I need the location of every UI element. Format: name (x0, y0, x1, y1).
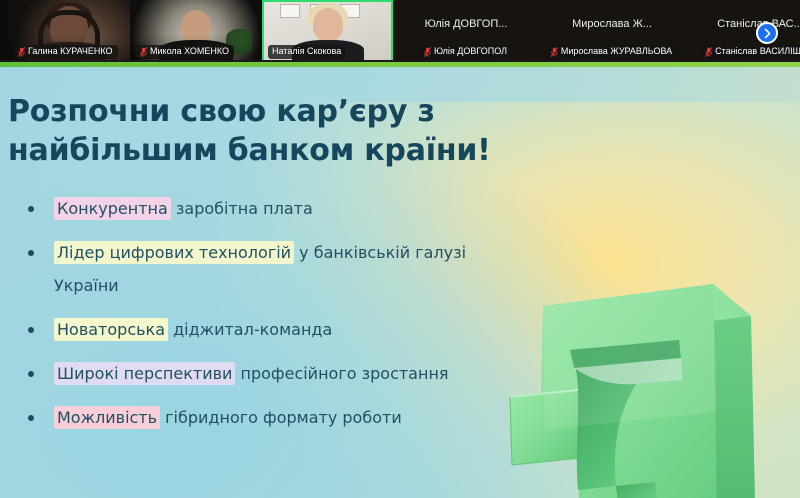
next-participants-button[interactable] (756, 22, 778, 44)
participant-2-name-label: Мирослава ЖУРАВЛЬОВА (561, 46, 672, 57)
slide-accent-rule (0, 62, 800, 67)
tile-3-wall-frame (280, 4, 300, 18)
mic-muted-icon (705, 47, 712, 57)
bullet-4-rest: професійного зростання (235, 364, 448, 383)
mic-muted-icon (424, 47, 431, 57)
bullet-3-highlight: Новаторська (54, 318, 168, 341)
participant-2-name-tag: Мирослава ЖУРАВЛЬОВА (547, 45, 677, 59)
tile-1-name-label: Галина КУРАЧЕНКО (28, 46, 113, 57)
tile-1-name-tag: Галина КУРАЧЕНКО (14, 45, 118, 59)
participant-2-display-name: Мирослава Ж... (539, 18, 685, 31)
strip-left-gutter (0, 0, 8, 62)
chevron-right-icon (763, 28, 772, 39)
bullet-4-highlight: Широкі перспективи (54, 362, 235, 385)
bullet-5-highlight: Можливість (54, 406, 160, 429)
participant-3-display-name: Станіслав ВАС... (685, 18, 800, 31)
bullet-2-highlight: Лідер цифрових технологій (54, 241, 294, 264)
mic-muted-icon (140, 47, 147, 57)
participant-slot-3[interactable]: Станіслав ВАС... Станіслав ВАСИЛІШИН (685, 0, 800, 62)
list-item: Новаторська діджитал-команда (10, 313, 530, 346)
participant-1-name-label: Юлія ДОВГОПОЛ (434, 46, 507, 57)
tile-2-name-label: Микола ХОМЕНКО (150, 46, 229, 57)
list-item: Лідер цифрових технологій у банківській … (10, 236, 530, 302)
participant-slot-2[interactable]: Мирослава Ж... Мирослава ЖУРАВЛЬОВА (539, 0, 685, 62)
video-strip: Галина КУРАЧЕНКО Микола ХОМЕНКО (0, 0, 800, 62)
list-item: Конкурентна заробітна плата (10, 192, 530, 225)
benefits-list: Конкурентна заробітна плата Лідер цифров… (10, 192, 530, 445)
tile-3-avatar-head (313, 8, 343, 42)
screen: Галина КУРАЧЕНКО Микола ХОМЕНКО (0, 0, 800, 498)
tile-3-name-label: Наталія Скокова (272, 46, 341, 57)
privatbank-3d-logo-icon (470, 262, 800, 498)
bullet-1-rest: заробітна плата (171, 199, 313, 218)
slide-title: Розпочни свою кар’єру з найбільшим банко… (8, 92, 528, 170)
video-tile-2[interactable]: Микола ХОМЕНКО (130, 0, 262, 62)
bullet-3-rest: діджитал-команда (168, 320, 332, 339)
tile-2-name-tag: Микола ХОМЕНКО (136, 45, 234, 59)
video-tile-3-active-speaker[interactable]: Наталія Скокова (262, 0, 393, 62)
mic-muted-icon (551, 47, 558, 57)
participant-3-name-tag: Станіслав ВАСИЛІШИН (701, 45, 800, 59)
video-tile-1[interactable]: Галина КУРАЧЕНКО (8, 0, 130, 62)
participant-3-name-label: Станіслав ВАСИЛІШИН (715, 46, 800, 57)
shared-slide: Розпочни свою кар’єру з найбільшим банко… (0, 62, 800, 498)
participant-slot-1[interactable]: Юлія ДОВГОП... Юлія ДОВГОПОЛ (393, 0, 539, 62)
mic-muted-icon (18, 47, 25, 57)
bullet-5-rest: гібридного формату роботи (160, 408, 402, 427)
tile-3-name-tag: Наталія Скокова (268, 45, 346, 59)
participant-1-name-tag: Юлія ДОВГОПОЛ (420, 45, 512, 59)
list-item: Широкі перспективи професійного зростанн… (10, 357, 530, 390)
bullet-1-highlight: Конкурентна (54, 197, 171, 220)
participant-1-display-name: Юлія ДОВГОП... (393, 18, 539, 31)
list-item: Можливість гібридного формату роботи (10, 401, 530, 434)
